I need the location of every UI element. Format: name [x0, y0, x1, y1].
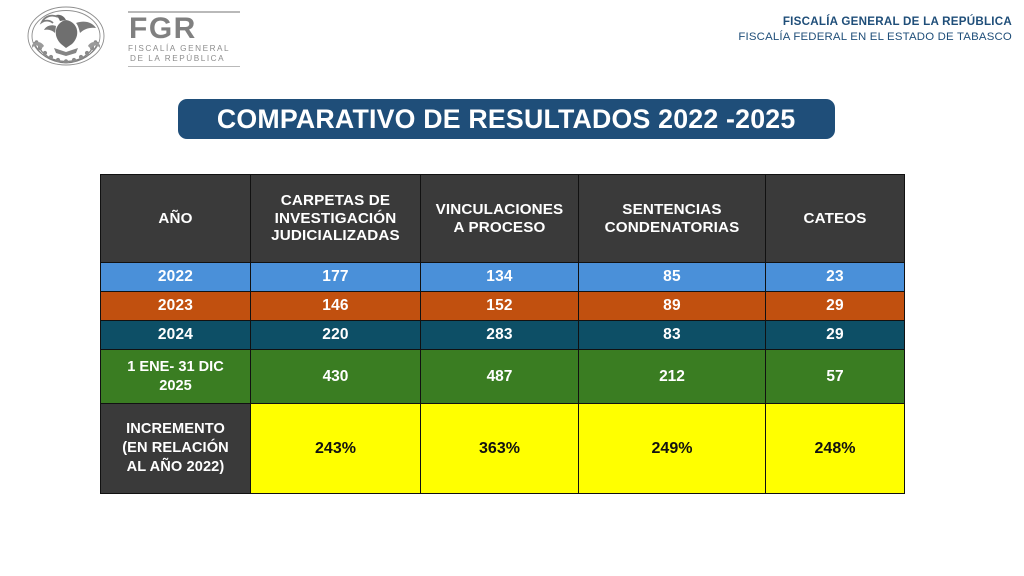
column-header-cateos: CATEOS — [766, 175, 905, 263]
cell-value: 283 — [421, 321, 579, 350]
table-row: INCREMENTO(EN RELACIÓNAL AÑO 2022) 243% … — [101, 404, 905, 494]
page-title: COMPARATIVO DE RESULTADOS 2022 -2025 — [217, 104, 795, 135]
column-header-ano: AÑO — [101, 175, 251, 263]
row-label: 1 ENE- 31 DIC2025 — [101, 350, 251, 404]
cell-value: 83 — [579, 321, 766, 350]
cell-value: 430 — [251, 350, 421, 404]
organization-title: FISCALÍA GENERAL DE LA REPÚBLICA FISCALÍ… — [738, 14, 1012, 45]
cell-value: 29 — [766, 321, 905, 350]
slide-title-banner: COMPARATIVO DE RESULTADOS 2022 -2025 — [178, 99, 835, 139]
column-header-sentencias-condenatorias: SENTENCIASCONDENATORIAS — [579, 175, 766, 263]
cell-value: 146 — [251, 292, 421, 321]
table-row: 1 ENE- 31 DIC2025 430 487 212 57 — [101, 350, 905, 404]
row-label: 2024 — [101, 321, 251, 350]
row-label: 2023 — [101, 292, 251, 321]
cell-value: 248% — [766, 404, 905, 494]
table-row: 2022 177 134 85 23 — [101, 263, 905, 292]
cell-value: 243% — [251, 404, 421, 494]
cell-value: 487 — [421, 350, 579, 404]
cell-value: 85 — [579, 263, 766, 292]
comparative-results-table: AÑO CARPETAS DEINVESTIGACIÓNJUDICIALIZAD… — [100, 174, 905, 494]
cell-value: 220 — [251, 321, 421, 350]
fgr-logo-subtitle-line1: FISCALÍA GENERAL — [128, 44, 246, 54]
fgr-logo: FGR FISCALÍA GENERAL DE LA REPÚBLICA — [128, 11, 246, 63]
cell-value: 152 — [421, 292, 579, 321]
page-header: FGR FISCALÍA GENERAL DE LA REPÚBLICA FIS… — [0, 0, 1024, 78]
cell-value: 29 — [766, 292, 905, 321]
cell-value: 363% — [421, 404, 579, 494]
column-header-carpetas-investigacion-judicializadas: CARPETAS DEINVESTIGACIÓNJUDICIALIZADAS — [251, 175, 421, 263]
cell-value: 23 — [766, 263, 905, 292]
fgr-logo-mark: FGR — [128, 14, 246, 44]
cell-value: 249% — [579, 404, 766, 494]
fgr-logo-subtitle-line2: DE LA REPÚBLICA — [128, 54, 246, 64]
cell-value: 212 — [579, 350, 766, 404]
column-header-vinculaciones-a-proceso: VINCULACIONESA PROCESO — [421, 175, 579, 263]
cell-value: 134 — [421, 263, 579, 292]
cell-value: 89 — [579, 292, 766, 321]
row-label: INCREMENTO(EN RELACIÓNAL AÑO 2022) — [101, 404, 251, 494]
table-row: 2024 220 283 83 29 — [101, 321, 905, 350]
table-body: 2022 177 134 85 23 2023 146 152 89 29 20… — [101, 263, 905, 494]
slide-page: FGR FISCALÍA GENERAL DE LA REPÚBLICA FIS… — [0, 0, 1024, 576]
organization-title-sub: FISCALÍA FEDERAL EN EL ESTADO DE TABASCO — [738, 30, 1012, 45]
table-row: 2023 146 152 89 29 — [101, 292, 905, 321]
organization-title-main: FISCALÍA GENERAL DE LA REPÚBLICA — [738, 14, 1012, 29]
row-label: 2022 — [101, 263, 251, 292]
mexican-coat-of-arms-icon — [14, 4, 118, 70]
fgr-logo-rule-bottom — [128, 66, 240, 68]
table-header: AÑO CARPETAS DEINVESTIGACIÓNJUDICIALIZAD… — [101, 175, 905, 263]
cell-value: 177 — [251, 263, 421, 292]
table-header-row: AÑO CARPETAS DEINVESTIGACIÓNJUDICIALIZAD… — [101, 175, 905, 263]
cell-value: 57 — [766, 350, 905, 404]
